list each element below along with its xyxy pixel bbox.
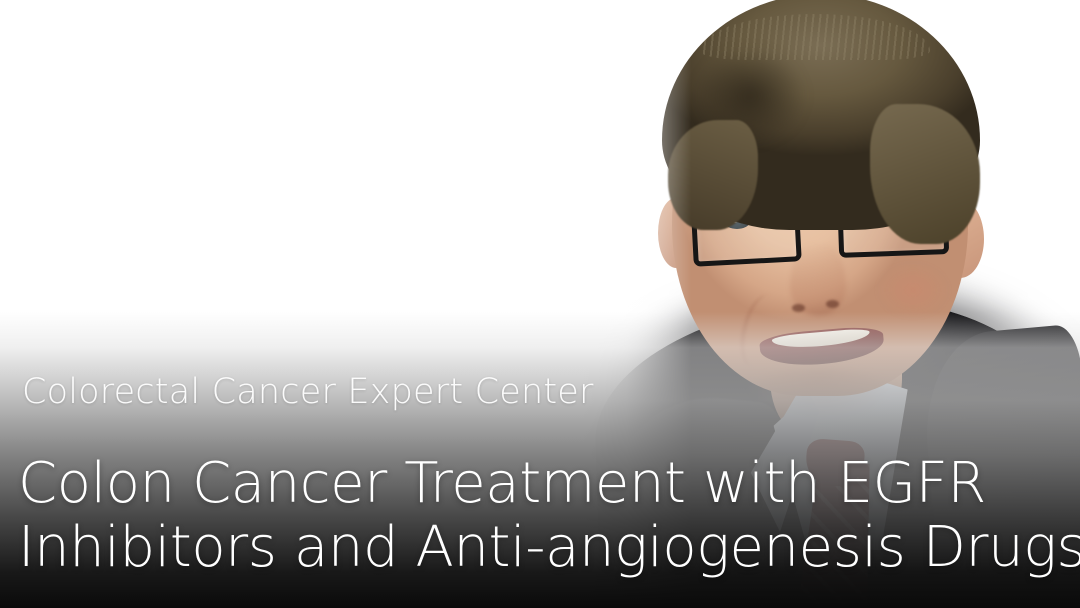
hair-left-side: [668, 120, 758, 230]
portrait-photo: [0, 0, 1080, 608]
right-nostril: [826, 300, 839, 308]
cheek: [876, 262, 950, 318]
video-title-card: Colorectal Cancer Expert Center Colon Ca…: [0, 0, 1080, 608]
chin-shadow: [744, 368, 894, 420]
suit-right-shoulder: [918, 324, 1080, 608]
left-nostril: [792, 304, 805, 312]
